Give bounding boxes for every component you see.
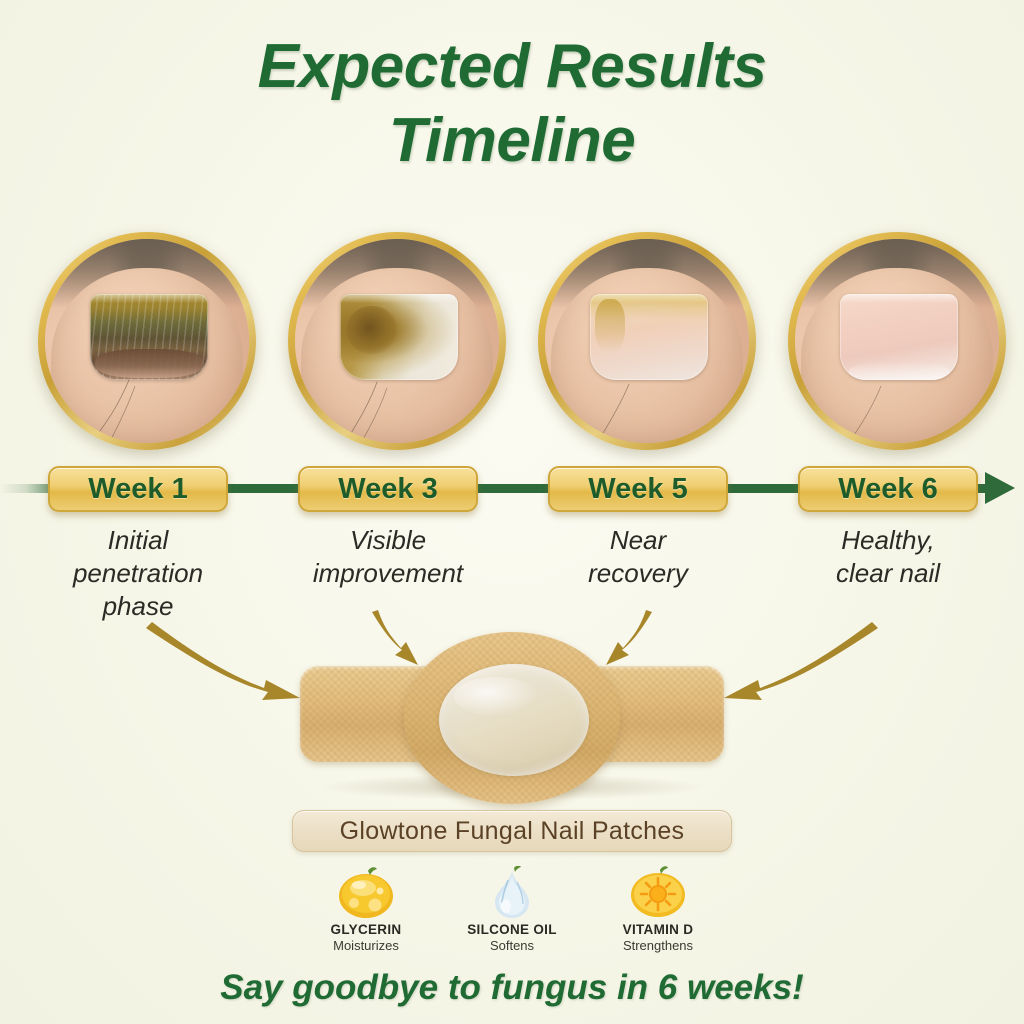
timeline-badge-week-5[interactable]: Week 5 <box>548 466 728 512</box>
nail-photo-week-1 <box>38 232 256 450</box>
hair-detail-icon <box>336 365 434 438</box>
nail-photo-week-3 <box>288 232 506 450</box>
ingredient-benefit: Softens <box>446 938 578 953</box>
nail-photo-week-5 <box>538 232 756 450</box>
timeline-caption-week-5: Nearrecovery <box>538 524 738 590</box>
timeline-badge-week-1[interactable]: Week 1 <box>48 466 228 512</box>
ingredient-silicone-oil: SILCONE OIL Softens <box>446 866 578 966</box>
ingredient-vitamin-d: VITAMIN D Strengthens <box>592 866 724 966</box>
timeline-arrowhead-icon <box>985 472 1015 504</box>
title-line-1: Expected Results <box>258 32 767 101</box>
ingredient-benefit: Strengthens <box>592 938 724 953</box>
timeline-caption-week-6: Healthy,clear nail <box>788 524 988 590</box>
hair-detail-icon <box>586 365 684 438</box>
ingredient-benefit: Moisturizes <box>300 938 432 953</box>
ingredients-row: GLYCERIN Moisturizes SILCONE OIL Softens <box>300 866 724 966</box>
infographic-canvas: Expected Results Timeline <box>0 0 1024 1024</box>
hair-detail-icon <box>836 365 934 438</box>
timeline-badge-week-3[interactable]: Week 3 <box>298 466 478 512</box>
timeline-caption-week-1: Initialpenetrationphase <box>38 524 238 623</box>
ingredient-name: VITAMIN D <box>592 922 724 937</box>
page-title: Expected Results Timeline <box>0 30 1024 178</box>
timeline-badge-week-6[interactable]: Week 6 <box>798 466 978 512</box>
ingredient-name: GLYCERIN <box>300 922 432 937</box>
product-name-label: Glowtone Fungal Nail Patches <box>292 810 732 852</box>
glycerin-droplet-icon <box>300 866 432 920</box>
tagline: Say goodbye to fungus in 6 weeks! <box>0 968 1024 1008</box>
arrow-week1-to-patch <box>146 622 300 700</box>
silicone-oil-drop-icon <box>446 866 578 920</box>
product-patch-image <box>282 628 742 808</box>
ingredient-name: SILCONE OIL <box>446 922 578 937</box>
vitamin-d-sun-icon <box>592 866 724 920</box>
title-line-2: Timeline <box>0 104 1024 178</box>
hair-detail-icon <box>86 365 184 438</box>
nail-photo-week-6 <box>788 232 1006 450</box>
ingredient-glycerin: GLYCERIN Moisturizes <box>300 866 432 966</box>
arrow-week6-to-patch <box>724 622 878 700</box>
timeline-caption-week-3: Visibleimprovement <box>288 524 488 590</box>
